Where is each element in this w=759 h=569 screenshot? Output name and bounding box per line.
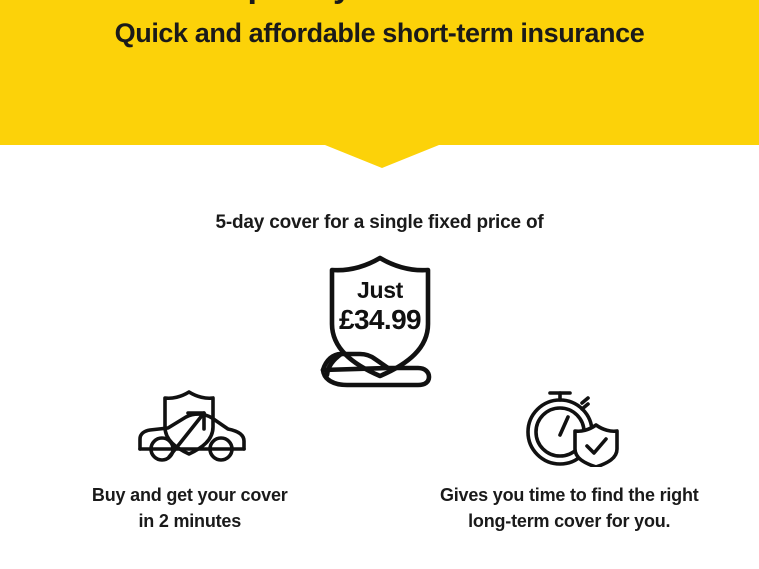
feature-caption-line: in 2 minutes — [92, 508, 288, 534]
hero-banner: Temporary car insurance Quick and afford… — [0, 0, 759, 145]
feature-caption-line: Buy and get your cover — [92, 482, 288, 508]
feature-item-speed: Buy and get your cover in 2 minutes — [0, 386, 380, 536]
feature-list: Buy and get your cover in 2 minutes — [0, 386, 759, 536]
feature-caption-line: Gives you time to find the right — [440, 482, 699, 508]
page-title: Temporary car insurance — [0, 0, 759, 6]
feature-caption-line: long-term cover for you. — [440, 508, 699, 534]
shield-in-hand-icon — [300, 252, 460, 390]
car-shield-arrow-icon — [128, 386, 252, 468]
page-subtitle: Quick and affordable short-term insuranc… — [0, 16, 759, 50]
stopwatch-shield-check-icon — [516, 386, 622, 468]
price-lead-in-text: 5-day cover for a single fixed price of — [0, 210, 759, 236]
feature-caption-speed: Buy and get your cover in 2 minutes — [92, 482, 288, 534]
feature-caption-time: Gives you time to find the right long-te… — [440, 482, 699, 534]
feature-item-time: Gives you time to find the right long-te… — [380, 386, 759, 536]
banner-pointer-notch — [325, 145, 439, 168]
